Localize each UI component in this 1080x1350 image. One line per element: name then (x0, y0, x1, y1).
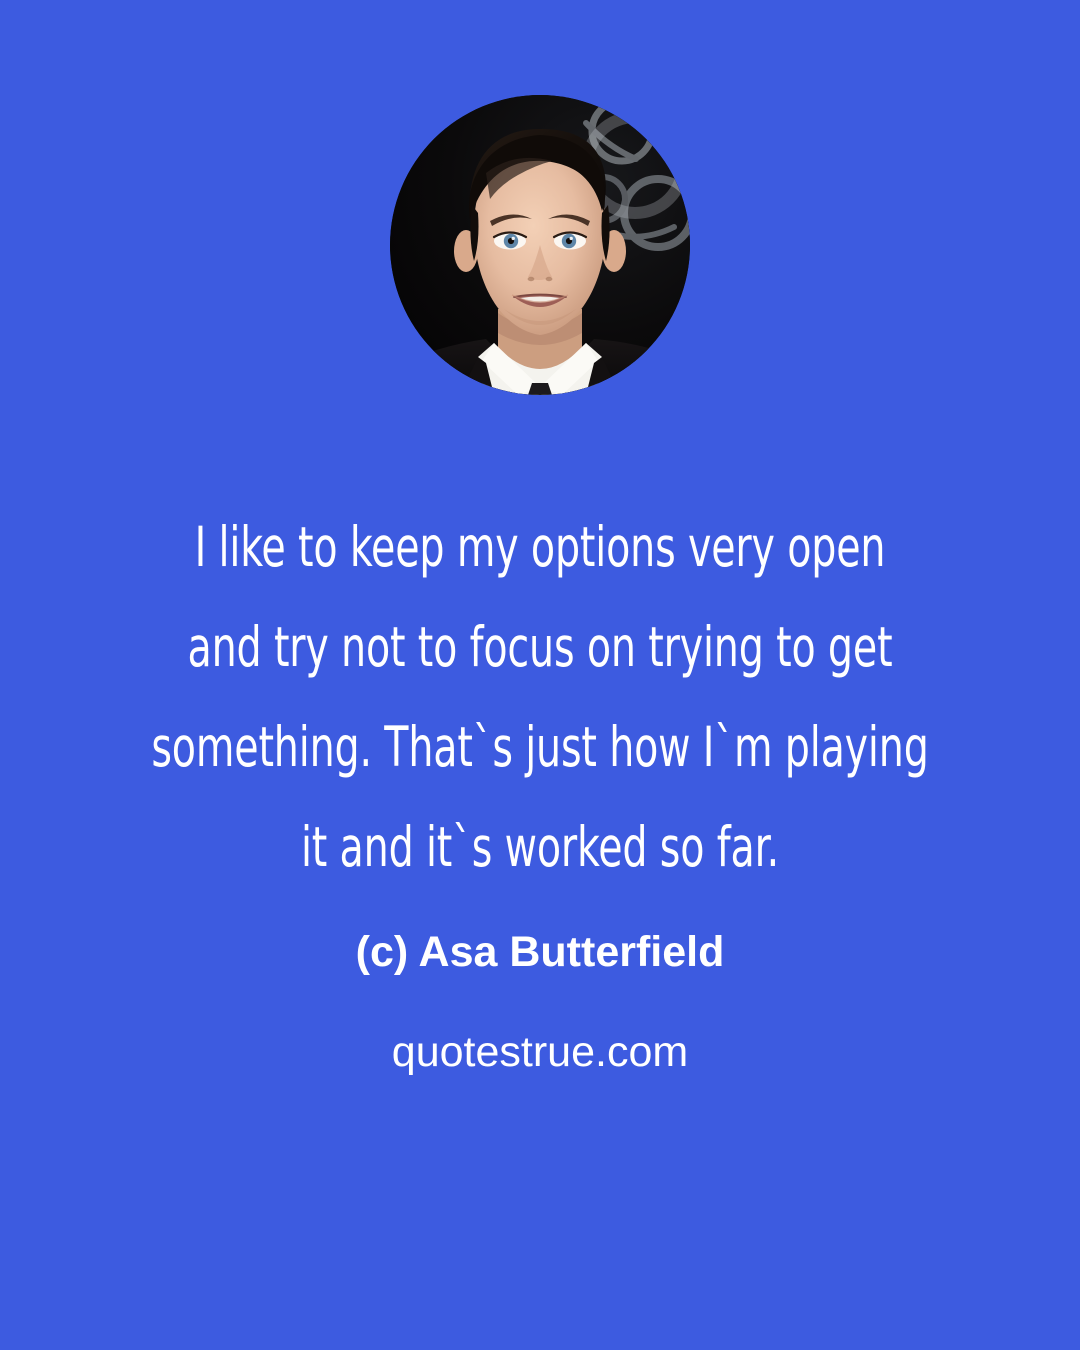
quote-line-4: it and it`s worked so far. (148, 797, 932, 897)
quote-attribution: (c) Asa Butterfield (50, 922, 1030, 982)
quote-card: I like to keep my options very open and … (0, 0, 1080, 1350)
site-watermark: quotestrue.com (50, 1022, 1030, 1082)
eye-left (494, 233, 526, 250)
quote-line-2: and try not to focus on trying to get (148, 597, 932, 697)
eye-right (554, 233, 586, 250)
portrait-illustration (390, 95, 690, 395)
tie-knot (528, 383, 552, 395)
quote-text: I like to keep my options very open and … (50, 497, 1030, 897)
author-portrait-avatar (390, 95, 690, 395)
quote-line-1: I like to keep my options very open (148, 497, 932, 597)
quote-line-3: something. That`s just how I`m playing (148, 697, 932, 797)
